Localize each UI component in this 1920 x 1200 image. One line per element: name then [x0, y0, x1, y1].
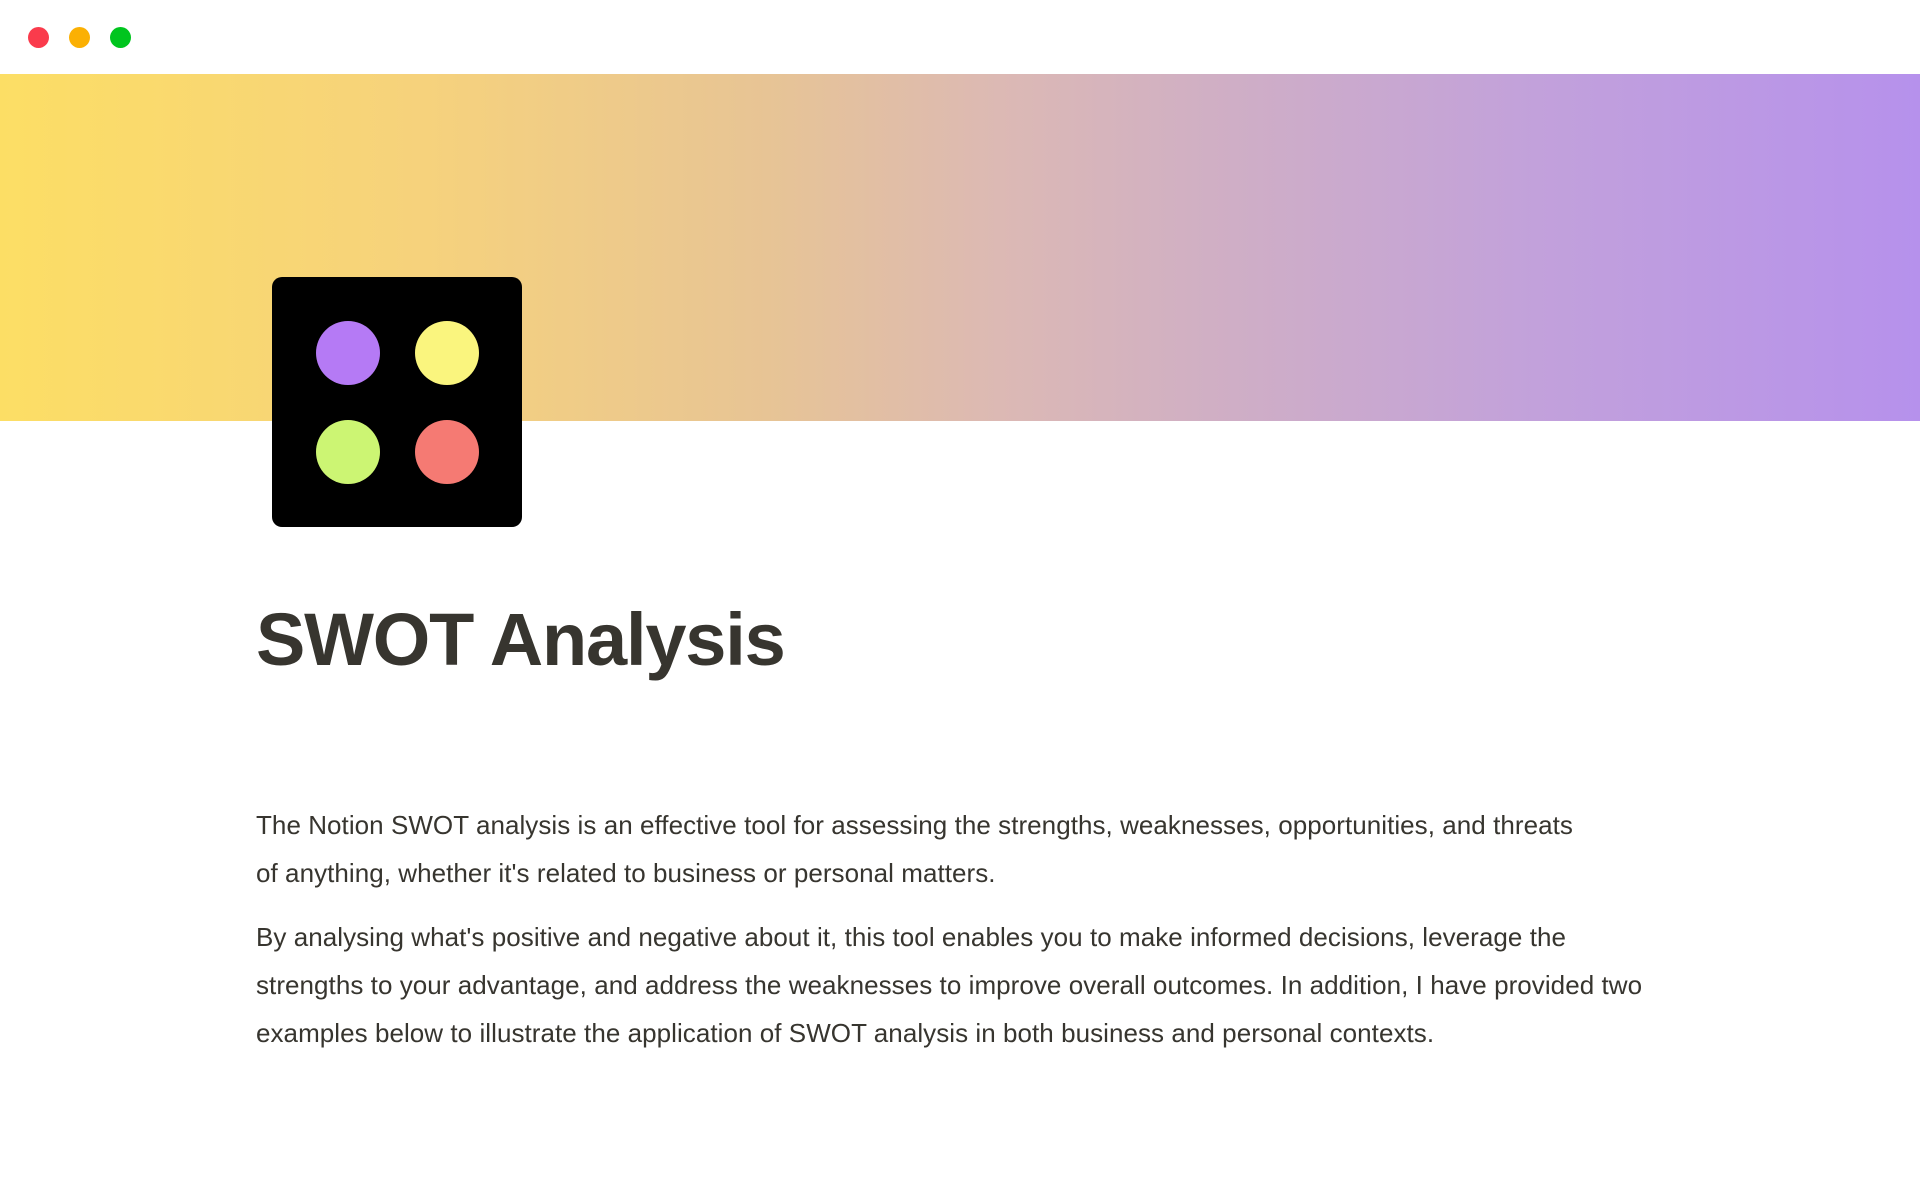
salmon-circle-icon — [415, 420, 479, 484]
window-titlebar — [0, 0, 1920, 74]
page-icon[interactable] — [272, 277, 522, 527]
paragraph-description[interactable]: By analysing what's positive and negativ… — [256, 913, 1661, 1057]
page-content: SWOT Analysis The Notion SWOT analysis i… — [0, 421, 1920, 1200]
page-title[interactable]: SWOT Analysis — [256, 601, 785, 679]
purple-circle-icon — [316, 321, 380, 385]
lime-circle-icon — [316, 420, 380, 484]
traffic-light-group — [28, 27, 131, 48]
close-window-button[interactable] — [28, 27, 49, 48]
yellow-circle-icon — [415, 321, 479, 385]
page-body: The Notion SWOT analysis is an effective… — [256, 801, 1671, 1057]
paragraph-intro[interactable]: The Notion SWOT analysis is an effective… — [256, 801, 1586, 897]
maximize-window-button[interactable] — [110, 27, 131, 48]
app-window: SWOT Analysis The Notion SWOT analysis i… — [0, 0, 1920, 1200]
minimize-window-button[interactable] — [69, 27, 90, 48]
